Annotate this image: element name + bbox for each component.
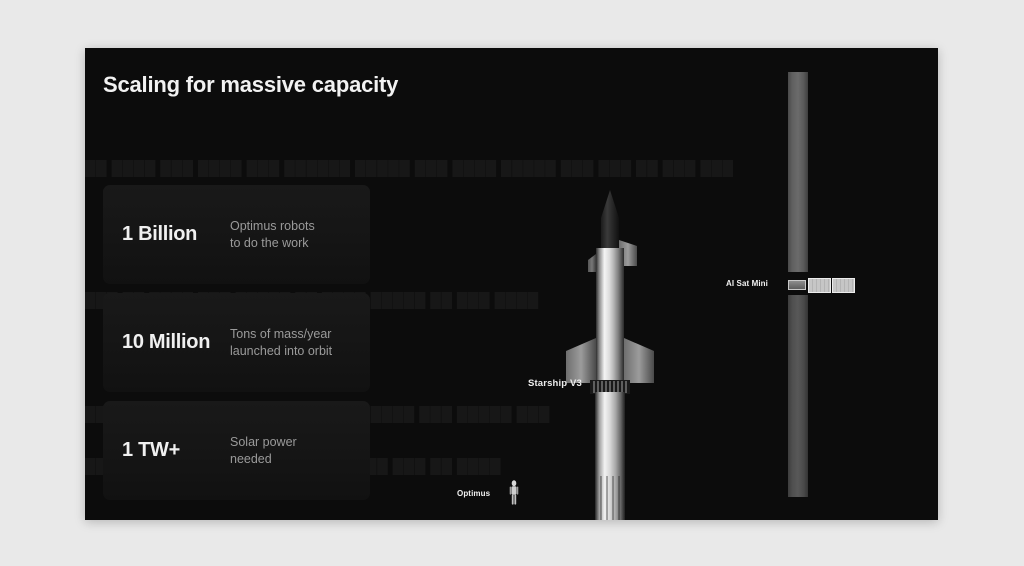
presentation-slide: ██ ████ ███ ████ ███ ██████ █████ ███ ██… — [85, 48, 938, 520]
optimus-diagram: Optimus — [457, 480, 547, 508]
stat-value: 1 Billion — [122, 223, 230, 246]
rocket-booster-body — [595, 392, 625, 520]
page-root: ██ ████ ███ ████ ███ ██████ █████ ███ ██… — [0, 0, 1024, 566]
rocket-aft-flap-left — [566, 338, 596, 383]
stat-card-optimus: 1 Billion Optimus robots to do the work — [103, 185, 370, 284]
ghost-text-row: ██ ████ ███ ████ ███ ██████ █████ ███ ██… — [85, 160, 938, 177]
scale-bar-upper — [788, 72, 808, 272]
stat-description: Optimus robots to do the work — [230, 218, 315, 251]
starship-label: Starship V3 — [528, 378, 582, 389]
stat-description-line: launched into orbit — [230, 343, 332, 360]
stat-description: Tons of mass/year launched into orbit — [230, 326, 332, 359]
satellite-bus — [788, 280, 806, 290]
stat-description-line: Optimus robots — [230, 218, 315, 235]
optimus-robot-icon — [507, 480, 521, 506]
satellite-solar-panel-left — [808, 278, 831, 293]
stat-description-line: needed — [230, 451, 297, 468]
stat-card-power: 1 TW+ Solar power needed — [103, 401, 370, 500]
stat-description: Solar power needed — [230, 434, 297, 467]
rocket-forward-flap-left — [588, 254, 596, 272]
stat-value: 1 TW+ — [122, 439, 230, 462]
optimus-label: Optimus — [457, 489, 490, 498]
starship-diagram: Starship V3 — [540, 188, 680, 520]
stat-description-line: Solar power — [230, 434, 297, 451]
stat-description-line: Tons of mass/year — [230, 326, 332, 343]
stat-value: 10 Million — [122, 331, 230, 354]
scale-bar-lower — [788, 295, 808, 497]
rocket-nose-cone — [601, 190, 619, 250]
satellite-solar-panel-right — [832, 278, 855, 293]
ai-sat-mini-icon — [788, 278, 856, 293]
starship-icon — [540, 188, 680, 520]
page-title: Scaling for massive capacity — [103, 72, 398, 98]
stat-card-mass: 10 Million Tons of mass/year launched in… — [103, 293, 370, 392]
rocket-aft-flap-right — [624, 338, 654, 383]
stat-description-line: to do the work — [230, 235, 315, 252]
ai-sat-mini-label: AI Sat Mini — [726, 279, 768, 288]
stat-card-list: 1 Billion Optimus robots to do the work … — [103, 185, 370, 509]
